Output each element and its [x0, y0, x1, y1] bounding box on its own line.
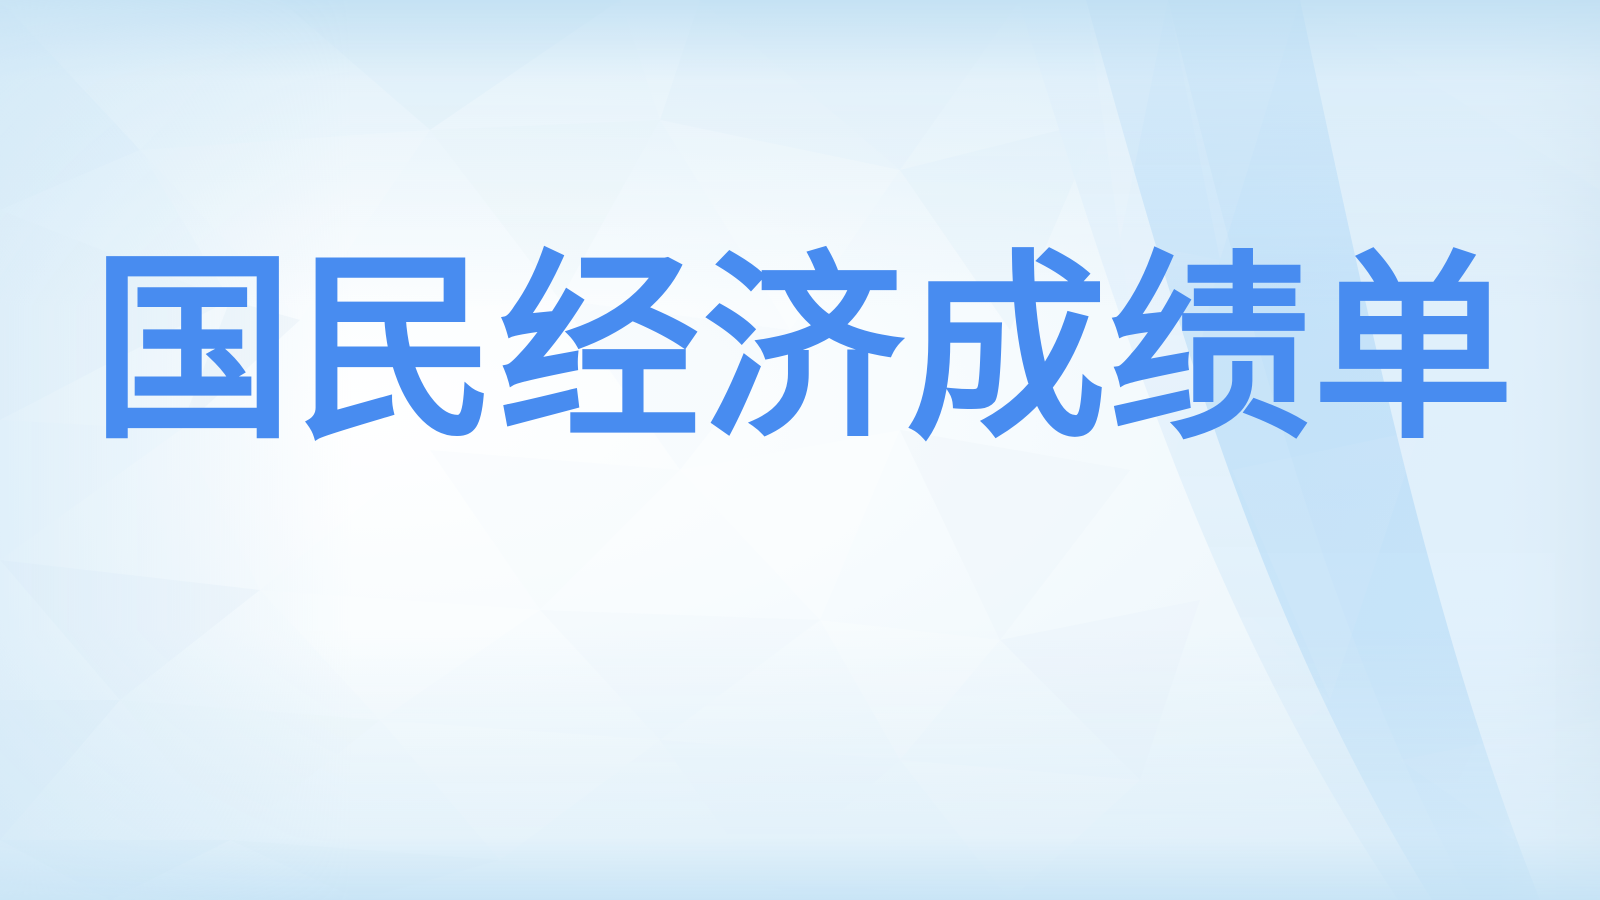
page-title: 国民经济成绩单 — [92, 250, 1516, 451]
slide-canvas: 国民经济成绩单 — [0, 0, 1600, 900]
headline-container: 国民经济成绩单 — [0, 0, 1600, 900]
